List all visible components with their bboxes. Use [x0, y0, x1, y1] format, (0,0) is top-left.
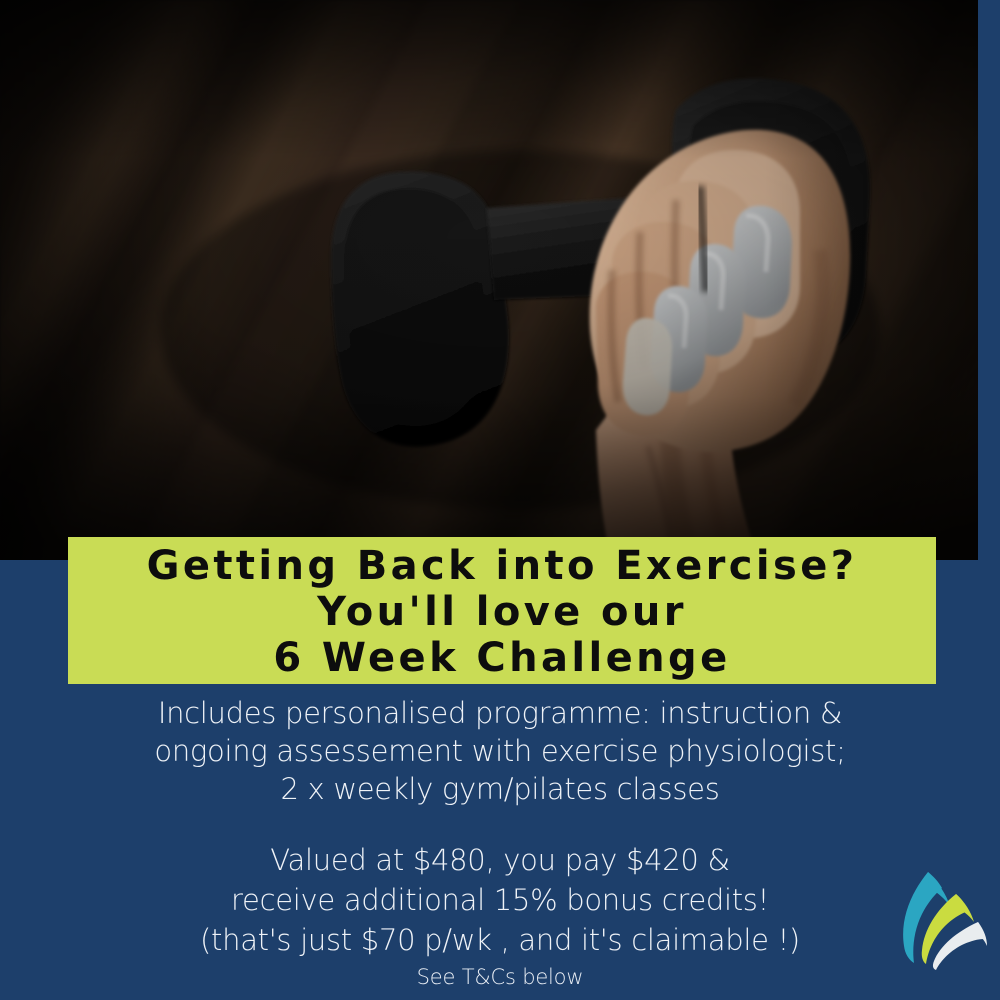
photo-vignette [0, 0, 980, 566]
promo-poster: Getting Back into Exercise? You'll love … [0, 0, 1000, 1000]
headline-line-3: 6 Week Challenge [273, 635, 730, 681]
offer-description-line-2: ongoing assessement with exercise physio… [0, 732, 1000, 770]
offer-description: Includes personalised programme: instruc… [0, 694, 1000, 808]
headline-line-2: You'll love our [317, 589, 687, 635]
pricing-line-1: Valued at $480, you pay $420 & [0, 840, 1000, 880]
logo-petal-green-tip [955, 894, 974, 922]
offer-description-line-1: Includes personalised programme: instruc… [0, 694, 1000, 732]
pricing-line-2: receive additional 15% bonus credits! [0, 880, 1000, 920]
brand-logo [896, 868, 992, 972]
three-petal-leaf-icon [896, 868, 992, 972]
pricing-line-3: (that's just $70 p/wk , and it's claimab… [0, 920, 1000, 960]
right-navy-strip [978, 0, 1000, 568]
terms-note: See T&Cs below [0, 962, 1000, 992]
pricing-block: Valued at $480, you pay $420 & receive a… [0, 840, 1000, 992]
headline-banner: Getting Back into Exercise? You'll love … [68, 537, 936, 684]
headline-line-1: Getting Back into Exercise? [147, 543, 858, 589]
hero-photo [0, 0, 980, 566]
logo-petal-teal-tip [928, 872, 950, 906]
offer-description-line-3: 2 x weekly gym/pilates classes [0, 770, 1000, 808]
